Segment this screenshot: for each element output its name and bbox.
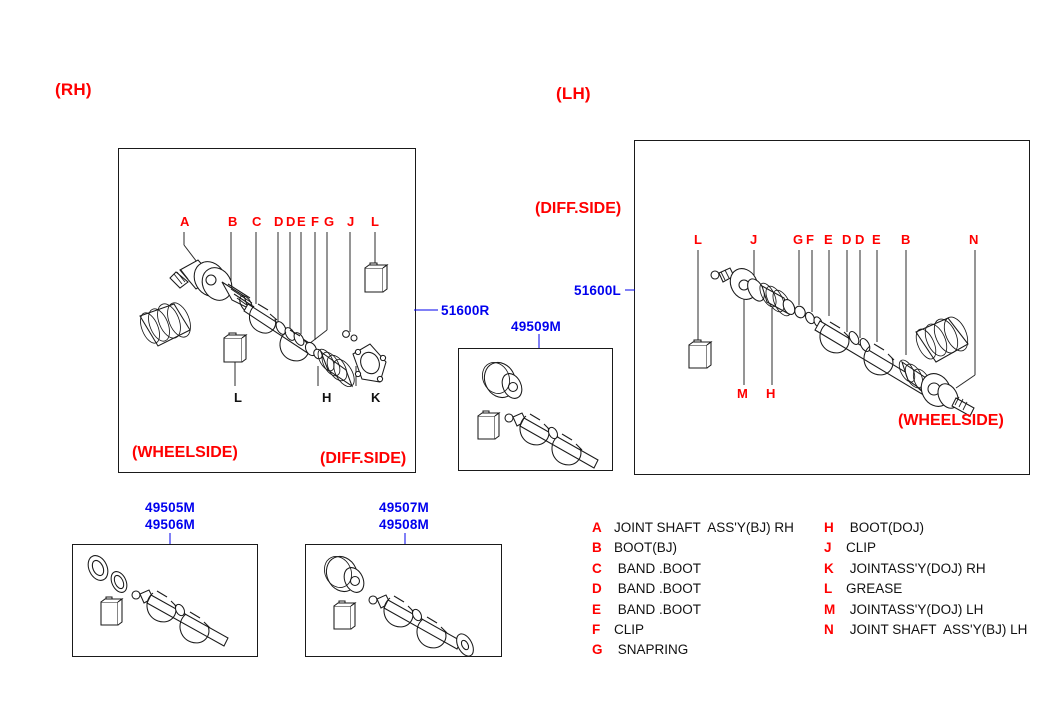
legend-item: M JOINTASS'Y(DOJ) LH	[824, 602, 1042, 622]
diagram-canvas: (RH) (LH)	[0, 0, 1063, 727]
legend-value-g: SNAPRING	[614, 642, 688, 657]
lh-callout-bottom-m: M	[737, 387, 748, 400]
legend-key-h: H	[824, 520, 846, 535]
legend-value-d: BAND .BOOT	[614, 581, 701, 596]
rh-wheelside-label: (WHEELSIDE)	[132, 444, 238, 462]
legend-key-g: G	[592, 642, 614, 657]
legend-item: D BAND .BOOT	[592, 581, 832, 601]
legend-column-2: H BOOT(DOJ) J CLIP K JOINTASS'Y(DOJ) RH …	[824, 520, 1042, 642]
legend-item: H BOOT(DOJ)	[824, 520, 1042, 540]
kit-left-drawing	[72, 544, 260, 659]
lh-part-number: 51600L	[574, 283, 621, 298]
rh-callout-g: G	[324, 215, 334, 228]
lh-part-leader	[625, 282, 641, 296]
lh-callout-l: L	[694, 233, 702, 246]
lh-callout-n: N	[969, 233, 978, 246]
lh-callout-e1: E	[824, 233, 833, 246]
legend-item: L GREASE	[824, 581, 1042, 601]
rh-callout-e: E	[297, 215, 306, 228]
lh-callout-j: J	[750, 233, 757, 246]
kit-left-label-1: 49505M	[145, 500, 195, 515]
lh-callout-e2: E	[872, 233, 881, 246]
legend-value-m: JOINTASS'Y(DOJ) LH	[846, 602, 983, 617]
legend-key-c: C	[592, 561, 614, 576]
kit-49509m-drawing	[458, 348, 615, 473]
lh-callout-g: G	[793, 233, 803, 246]
legend-item: A JOINT SHAFT ASS'Y(BJ) RH	[592, 520, 832, 540]
legend-value-l: GREASE	[846, 581, 902, 596]
kit-49509m-label: 49509M	[511, 319, 561, 334]
lh-callout-d2: D	[855, 233, 864, 246]
legend-key-m: M	[824, 602, 846, 617]
legend-value-c: BAND .BOOT	[614, 561, 701, 576]
rh-callout-bottom-l: L	[234, 391, 242, 404]
rh-part-leader	[414, 303, 444, 317]
legend-item: E BAND .BOOT	[592, 602, 832, 622]
legend-key-n: N	[824, 622, 846, 637]
legend-value-f: CLIP	[614, 622, 644, 637]
kit-mid-label-2: 49508M	[379, 517, 429, 532]
lh-wheelside-label: (WHEELSIDE)	[898, 412, 1004, 430]
rh-callout-l: L	[371, 215, 379, 228]
lh-callout-bottom-h: H	[766, 387, 775, 400]
lh-header: (LH)	[556, 84, 591, 104]
kit-mid-label-1: 49507M	[379, 500, 429, 515]
legend-key-e: E	[592, 602, 614, 617]
legend-value-j: CLIP	[846, 540, 876, 555]
legend-value-k: JOINTASS'Y(DOJ) RH	[846, 561, 986, 576]
kit-left-label-2: 49506M	[145, 517, 195, 532]
rh-callout-bottom-k: K	[371, 391, 380, 404]
legend-value-b: BOOT(BJ)	[614, 540, 677, 555]
lh-callout-f: F	[806, 233, 814, 246]
rh-callout-b: B	[228, 215, 237, 228]
legend-key-j: J	[824, 540, 846, 555]
legend-key-d: D	[592, 581, 614, 596]
legend-value-a: JOINT SHAFT ASS'Y(BJ) RH	[614, 520, 794, 535]
rh-part-number: 51600R	[441, 303, 490, 318]
rh-callout-d2: D	[286, 215, 295, 228]
rh-callout-d1: D	[274, 215, 283, 228]
legend-key-a: A	[592, 520, 614, 535]
legend-value-h: BOOT(DOJ)	[846, 520, 924, 535]
legend-item: J CLIP	[824, 540, 1042, 560]
rh-callout-j: J	[347, 215, 354, 228]
rh-header: (RH)	[55, 80, 92, 100]
rh-callout-a: A	[180, 215, 189, 228]
legend-item: C BAND .BOOT	[592, 561, 832, 581]
legend-column-1: A JOINT SHAFT ASS'Y(BJ) RH B BOOT(BJ) C …	[592, 520, 832, 663]
rh-diffside-label: (DIFF.SIDE)	[320, 450, 406, 468]
lh-diffside-label: (DIFF.SIDE)	[535, 200, 621, 218]
rh-callout-f: F	[311, 215, 319, 228]
legend-item: B BOOT(BJ)	[592, 540, 832, 560]
legend-item: K JOINTASS'Y(DOJ) RH	[824, 561, 1042, 581]
legend-key-f: F	[592, 622, 614, 637]
rh-assembly-drawing	[118, 148, 418, 475]
lh-callout-d1: D	[842, 233, 851, 246]
legend-item: G SNAPRING	[592, 642, 832, 662]
rh-callout-c: C	[252, 215, 261, 228]
legend-key-b: B	[592, 540, 614, 555]
legend-key-k: K	[824, 561, 846, 576]
lh-callout-b: B	[901, 233, 910, 246]
rh-callout-bottom-h: H	[322, 391, 331, 404]
kit-mid-drawing	[305, 544, 504, 659]
legend-value-n: JOINT SHAFT ASS'Y(BJ) LH	[846, 622, 1027, 637]
legend-item: N JOINT SHAFT ASS'Y(BJ) LH	[824, 622, 1042, 642]
legend-value-e: BAND .BOOT	[614, 602, 701, 617]
legend-key-l: L	[824, 581, 846, 596]
legend-item: F CLIP	[592, 622, 832, 642]
